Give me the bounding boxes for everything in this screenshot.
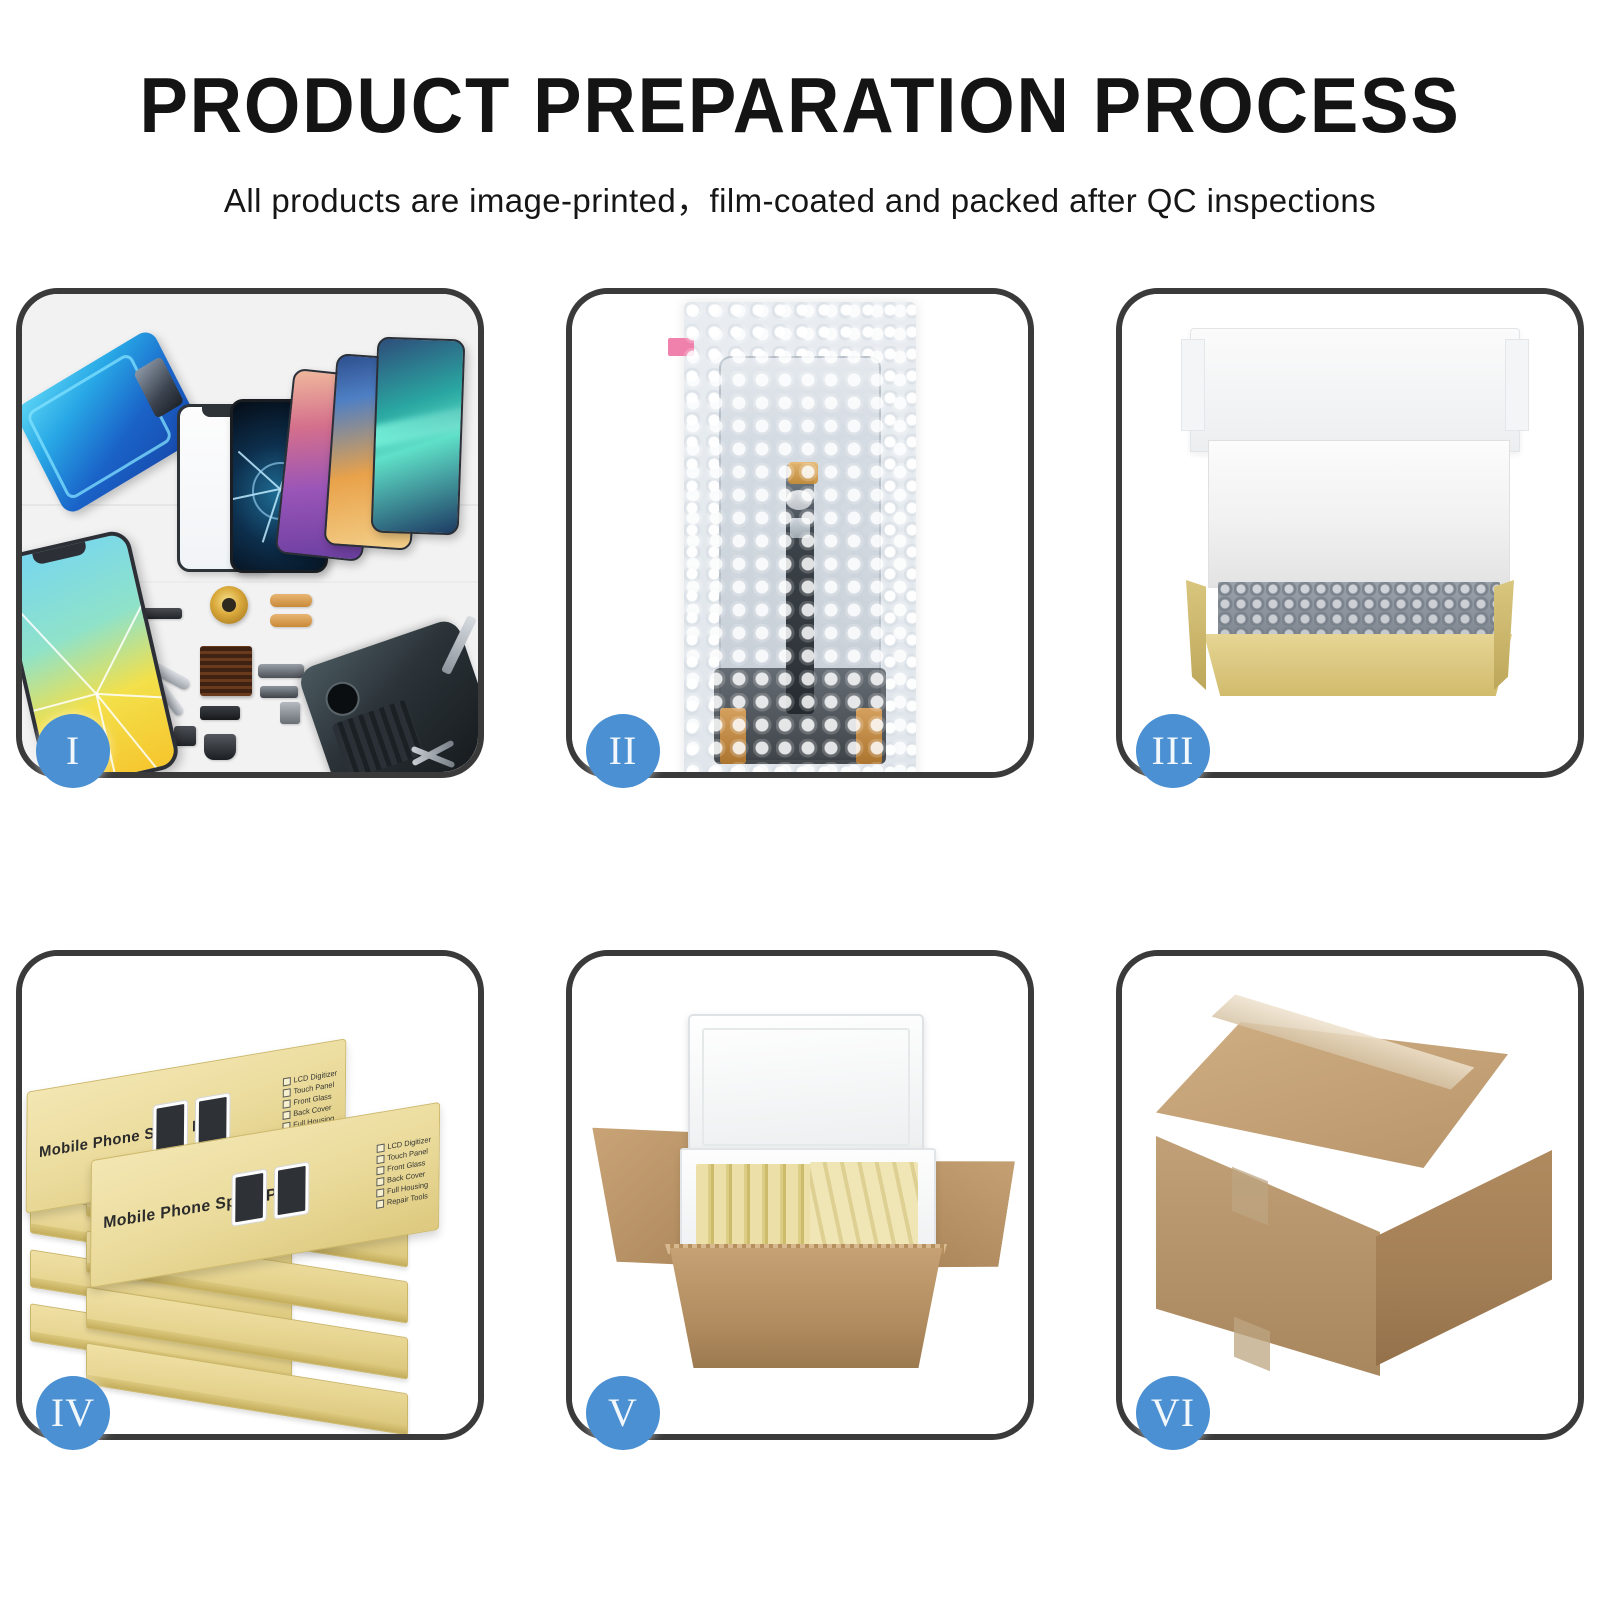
step-badge-1: I xyxy=(36,714,110,788)
carton-right-face-icon xyxy=(1376,1150,1552,1366)
vibrator-motor-icon xyxy=(204,734,236,760)
button-flex-icon xyxy=(260,686,298,698)
step-panel-1[interactable]: I xyxy=(16,288,484,778)
retail-box-stack-illustration: Mobile Phone Spare Parts LCD Digitizer T… xyxy=(22,956,478,1434)
step-panel-4[interactable]: Mobile Phone Spare Parts LCD Digitizer T… xyxy=(16,950,484,1440)
connector-icon xyxy=(280,702,300,724)
flex-cable-icon-2 xyxy=(270,614,312,627)
camera-module-icon xyxy=(258,664,304,678)
step-panel-2[interactable]: II xyxy=(566,288,1034,778)
process-step-grid: I II xyxy=(16,288,1584,1440)
retail-box-checklist-2: LCD Digitizer Touch Panel Front Glass Ba… xyxy=(376,1135,431,1209)
bubble-wrap-illustration xyxy=(572,294,1028,772)
box-side-left-icon xyxy=(1186,580,1206,690)
page-header: PRODUCT PREPARATION PROCESS All products… xyxy=(0,0,1600,222)
chip-icon xyxy=(174,726,196,746)
phone-lineup-icon-3 xyxy=(371,337,466,536)
step-image-5 xyxy=(572,956,1028,1434)
connector-gold-icon xyxy=(788,462,818,484)
phone-thumbnail-icon-3 xyxy=(231,1168,267,1227)
sealed-carton-illustration xyxy=(1122,956,1578,1434)
retail-box-thumbnails-2 xyxy=(231,1161,309,1227)
phone-back-housing-icon xyxy=(296,617,478,772)
step-panel-3[interactable]: III xyxy=(1116,288,1584,778)
foam-cooler-lid-icon xyxy=(688,1014,924,1160)
wireless-charging-coil-icon xyxy=(210,586,248,624)
foam-sheet-icon xyxy=(1208,440,1510,588)
ic-chip-icon xyxy=(200,646,252,696)
connector-square-icon xyxy=(790,518,810,538)
step-badge-4: IV xyxy=(36,1376,110,1450)
step-badge-5: V xyxy=(586,1376,660,1450)
step-image-4: Mobile Phone Spare Parts LCD Digitizer T… xyxy=(22,956,478,1434)
gold-contact-icon-left xyxy=(720,708,746,764)
phone-thumbnail-icon-4 xyxy=(274,1161,310,1220)
step-badge-2: II xyxy=(586,714,660,788)
packed-retail-boxes-icon-2 xyxy=(810,1162,918,1248)
step-image-1 xyxy=(22,294,478,772)
box-front-panel-icon xyxy=(1194,634,1522,696)
step-badge-3: III xyxy=(1136,714,1210,788)
flex-cable-icon-1 xyxy=(270,594,312,607)
foam-cooler-carton-illustration xyxy=(572,956,1028,1434)
page-title: PRODUCT PREPARATION PROCESS xyxy=(56,66,1544,144)
pink-label-icon xyxy=(668,338,694,356)
carton-body-icon xyxy=(658,1248,954,1368)
gold-contact-icon-right xyxy=(856,708,882,764)
box-lid-icon xyxy=(1190,328,1520,452)
step-image-6 xyxy=(1122,956,1578,1434)
page-subtitle: All products are image-printed，film-coat… xyxy=(0,174,1600,222)
speaker-icon xyxy=(200,706,240,720)
step-image-2 xyxy=(572,294,1028,772)
connector-round-icon xyxy=(786,490,812,510)
mailer-box-illustration xyxy=(1122,294,1578,772)
step-image-3 xyxy=(1122,294,1578,772)
step-panel-6[interactable]: VI xyxy=(1116,950,1584,1440)
step-panel-5[interactable]: V xyxy=(566,950,1034,1440)
step-badge-6: VI xyxy=(1136,1376,1210,1450)
parts-assortment-illustration xyxy=(22,294,478,772)
